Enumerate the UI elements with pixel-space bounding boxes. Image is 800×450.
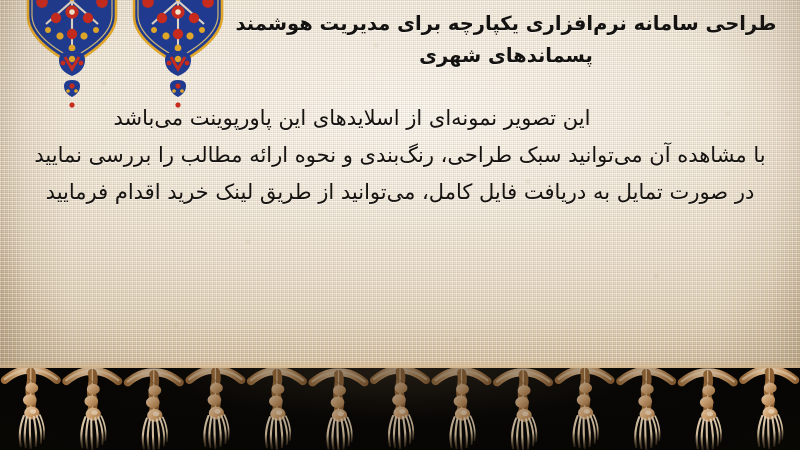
tassel-row <box>5 370 795 450</box>
motif-right-pendant <box>165 51 191 108</box>
tassel <box>682 372 734 450</box>
tassel <box>743 370 795 448</box>
tassel <box>251 371 303 449</box>
body-line-3: در صورت تمایل به دریافت فایل کامل، می‌تو… <box>8 182 792 203</box>
tassel <box>374 370 426 448</box>
tassel <box>559 370 611 448</box>
body-line-2: با مشاهده آن می‌توانید سبک طراحی، رنگ‌بن… <box>8 145 792 166</box>
slide-body-text: این تصویر نمونه‌ای از اسلایدهای این پاور… <box>8 108 792 203</box>
tassel <box>620 371 672 449</box>
tassel <box>5 370 57 448</box>
tassel <box>66 371 118 449</box>
tassel <box>128 372 180 450</box>
tassel <box>189 370 241 448</box>
fringe-svg <box>0 368 800 450</box>
title-line-2: پسماندهای شهری <box>226 40 786 72</box>
persian-carpet-medallion-motif <box>0 0 250 108</box>
decorative-motif-group <box>0 0 250 104</box>
carpet-fringe-tassels <box>0 368 800 450</box>
title-line-1: طراحی سامانه نرم‌افزاری یکپارچه برای مدی… <box>226 8 786 40</box>
tassel <box>313 372 365 450</box>
motif-left-pendant <box>59 51 85 108</box>
tassel <box>497 372 549 450</box>
slide-canvas: طراحی سامانه نرم‌افزاری یکپارچه برای مدی… <box>0 0 800 450</box>
tassel <box>436 371 488 449</box>
slide-title: طراحی سامانه نرم‌افزاری یکپارچه برای مدی… <box>226 8 786 71</box>
body-line-1: این تصویر نمونه‌ای از اسلایدهای این پاور… <box>8 108 792 129</box>
